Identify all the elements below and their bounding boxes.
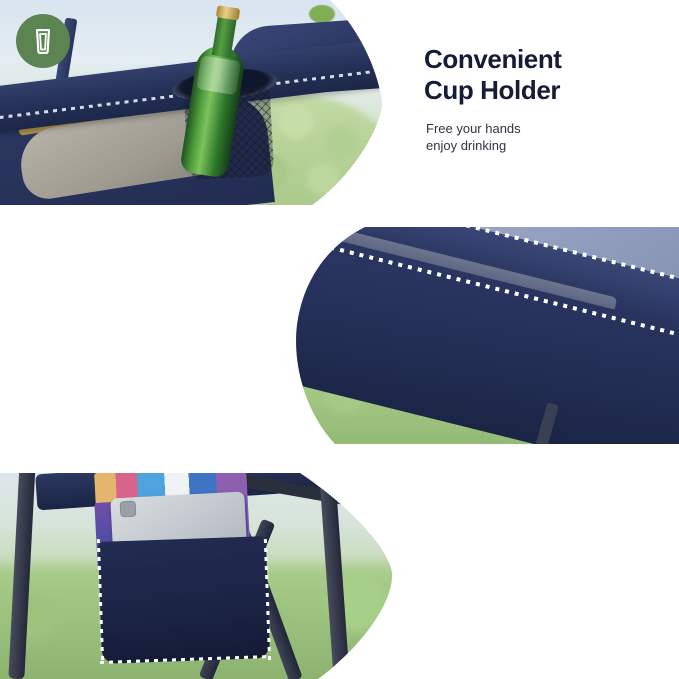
tablet-camera [120, 501, 137, 518]
infographic-page: Convenient Cup Holder Free your hands en… [0, 0, 679, 679]
feature-panel-cup-holder: Convenient Cup Holder Free your hands en… [0, 0, 679, 207]
feature-text-cup-holder: Convenient Cup Holder Free your hands en… [424, 44, 664, 154]
product-photo-cooler-bag [0, 455, 392, 679]
panel-subtext: Free your hands enjoy drinking [424, 106, 664, 154]
cooler-bag-pocket [98, 536, 270, 664]
feature-panel-cooler-bag: Personalized Cooler Bag Make your summer… [0, 455, 679, 679]
feature-badge-cup-holder [16, 14, 70, 68]
bottle-label [196, 55, 241, 95]
feature-panel-side-pocket: Three-Dimensional Oxford Side Pocket Pla… [0, 227, 679, 444]
panel-headline: Convenient Cup Holder [424, 44, 664, 106]
cup-glass-icon [28, 26, 58, 56]
product-photo-side-pocket [295, 227, 679, 444]
